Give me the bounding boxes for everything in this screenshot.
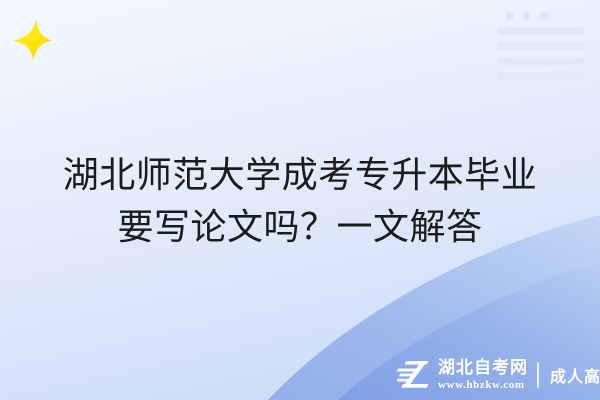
document-window-dots [497,9,585,20]
page-title: 湖北师范大学成考专升本毕业 要写论文吗？一文解答 [0,150,600,254]
document-window-icon [497,9,585,63]
brand-divider [537,362,539,388]
page-title-line-2: 要写论文吗？一文解答 [0,202,600,254]
window-bar [497,57,585,65]
brand-lockup[interactable]: 湖北自考网 www.hbzkw.com 成人高考 [397,356,600,394]
window-dot [523,12,531,20]
window-bar [497,42,585,50]
window-dot [506,12,514,20]
brand-text-block: 湖北自考网 www.hbzkw.com [438,360,528,391]
window-bar [497,72,585,80]
page-title-line-1: 湖北师范大学成考专升本毕业 [0,150,600,202]
brand-name: 湖北自考网 [438,360,528,377]
window-bar [497,27,585,35]
brand-url: www.hbzkw.com [438,380,528,391]
brand-tagline: 成人高考 [550,363,600,387]
four-point-star-icon [12,19,52,61]
hbzkw-logo-icon [397,359,431,391]
cover-canvas: 湖北师范大学成考专升本毕业 要写论文吗？一文解答 湖北自考网 www.hbzkw… [0,0,600,400]
document-window-bars [497,27,585,80]
window-dot [540,12,548,20]
